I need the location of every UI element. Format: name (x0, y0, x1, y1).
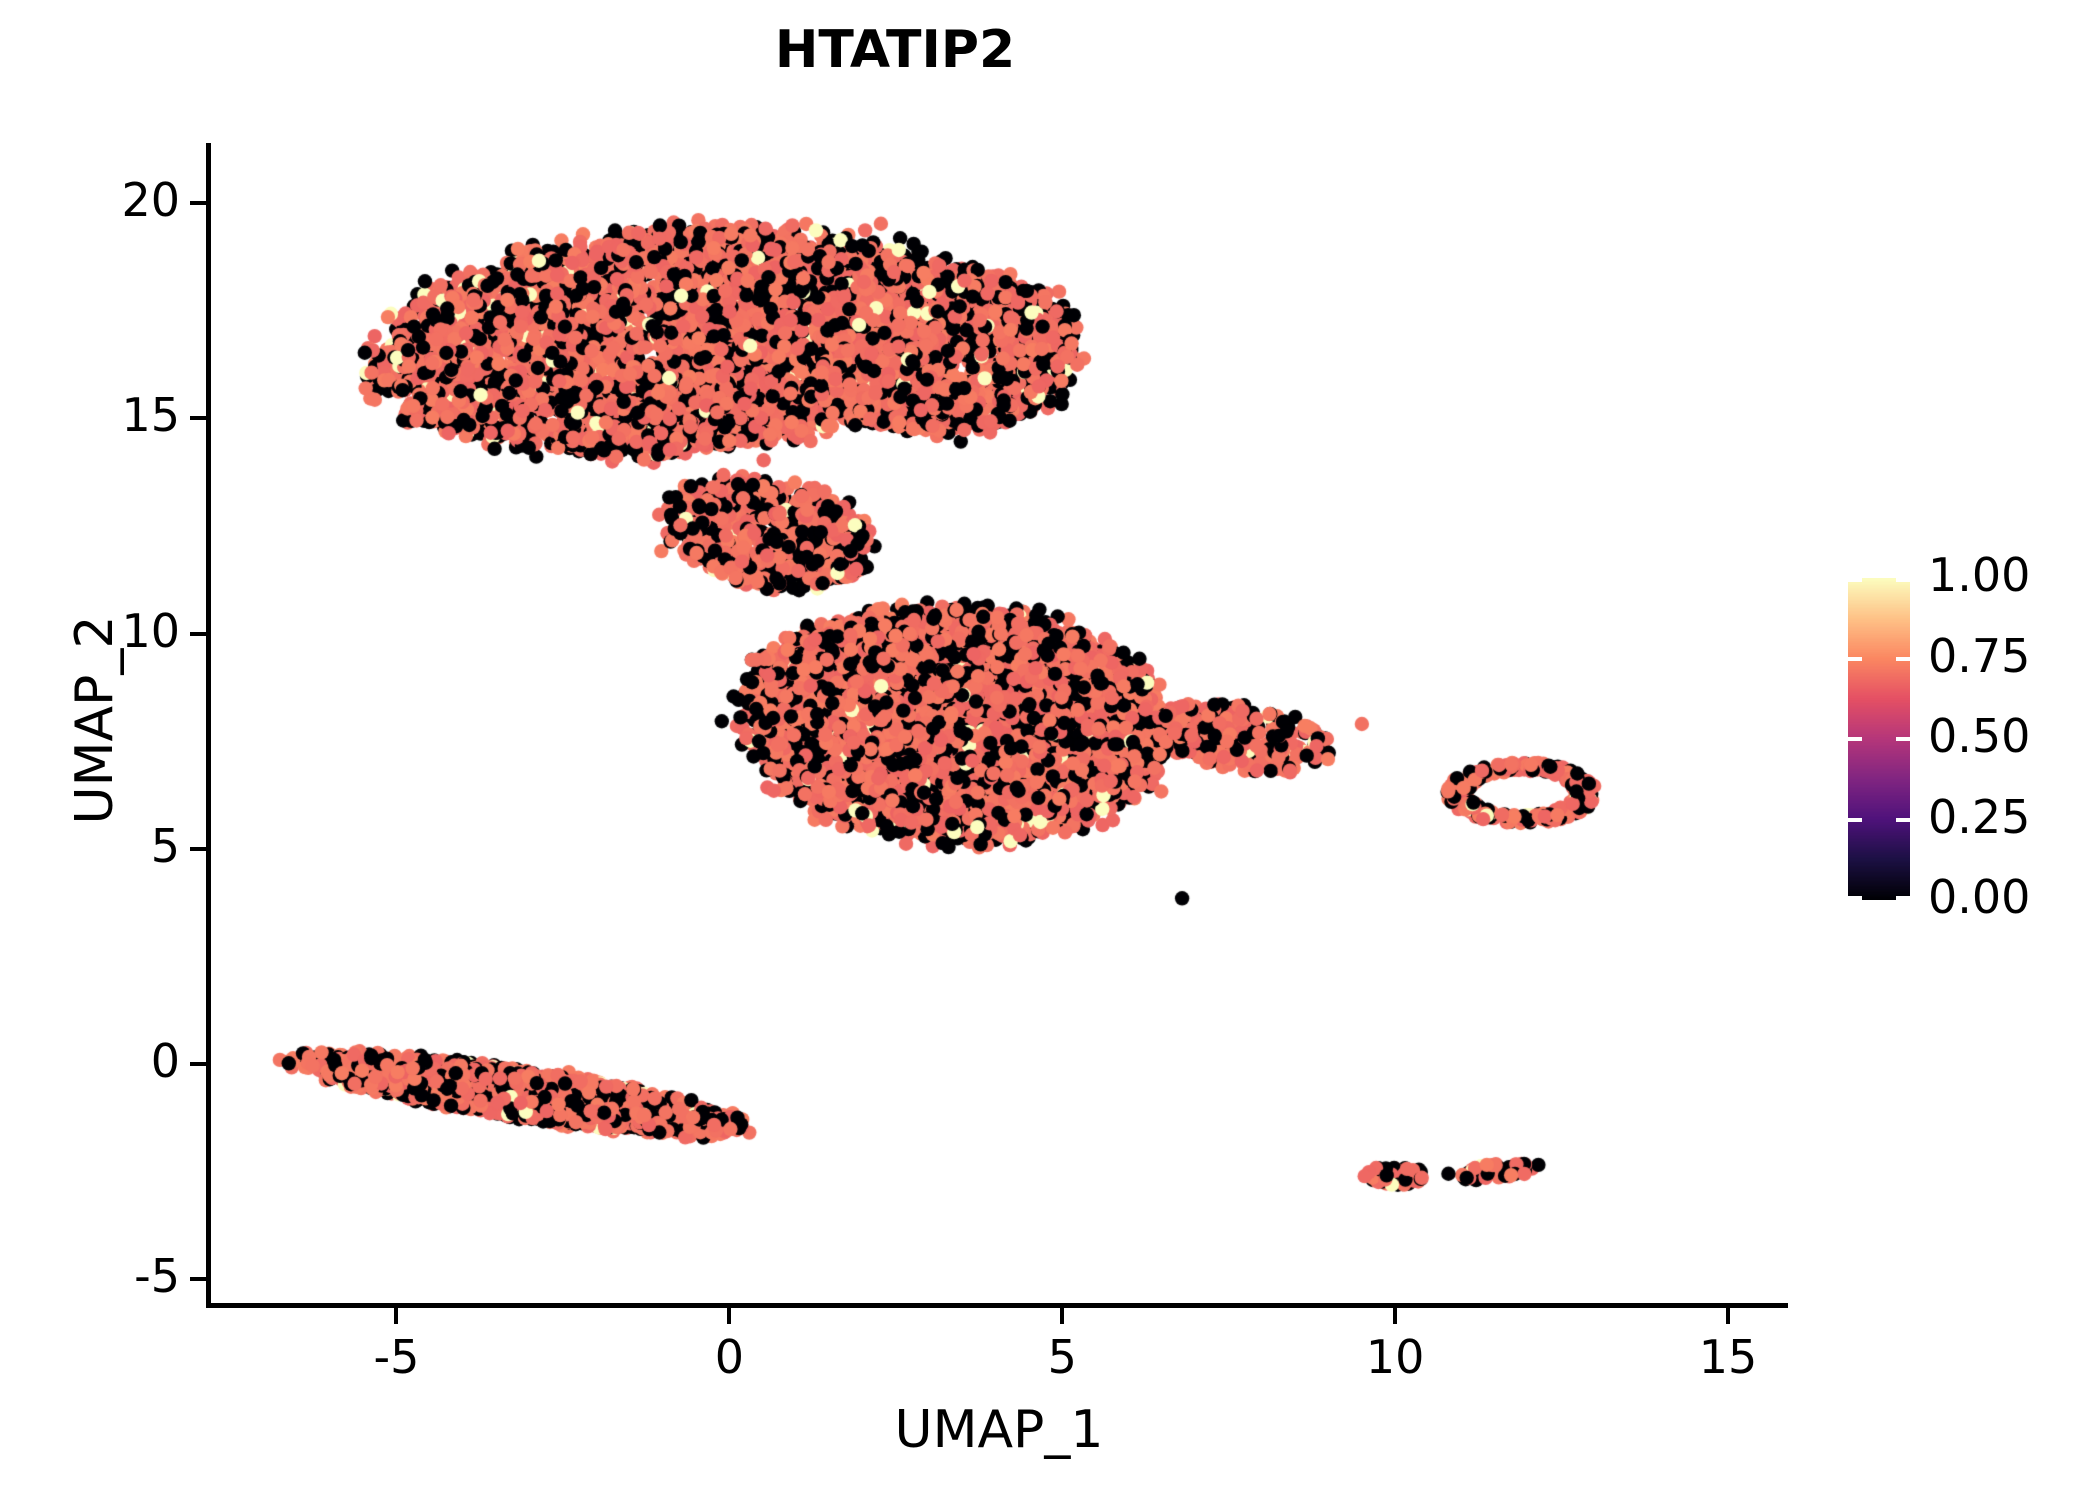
figure-root: HTATIP2 -5051015 -505101520 UMAP_1 UMAP_… (0, 0, 2100, 1500)
scatter-plot-area (210, 143, 1788, 1305)
colorbar-tick-mark (1896, 657, 1910, 661)
colorbar-tick-label: 0.25 (1928, 790, 2030, 844)
colorbar-tick-mark (1896, 737, 1910, 741)
colorbar-tick-label: 0.00 (1928, 870, 2030, 924)
x-tick-mark (1726, 1308, 1730, 1324)
y-tick-mark (190, 416, 206, 420)
x-tick-label: 0 (649, 1330, 809, 1384)
colorbar-tick-mark (1896, 896, 1910, 900)
colorbar-tick-mark (1848, 896, 1862, 900)
x-axis-label: UMAP_1 (210, 1400, 1788, 1460)
y-tick-mark (190, 1277, 206, 1281)
y-axis-spine (206, 143, 211, 1308)
x-tick-label: 10 (1315, 1330, 1475, 1384)
x-tick-label: 5 (982, 1330, 1142, 1384)
colorbar-tick-mark (1848, 657, 1862, 661)
scatter-points-canvas (210, 143, 1788, 1305)
x-tick-mark (727, 1308, 731, 1324)
colorbar-tick-mark (1896, 818, 1910, 822)
colorbar-tick-mark (1848, 578, 1862, 582)
x-tick-mark (1060, 1308, 1064, 1324)
y-tick-mark (190, 201, 206, 205)
page-title: HTATIP2 (0, 20, 1790, 80)
colorbar-tick-mark (1848, 737, 1862, 741)
y-tick-mark (190, 632, 206, 636)
y-tick-label: 20 (0, 173, 180, 227)
colorbar-legend (1848, 578, 1910, 900)
x-tick-label: 15 (1648, 1330, 1808, 1384)
y-tick-mark (190, 847, 206, 851)
colorbar-tick-mark (1848, 818, 1862, 822)
y-tick-mark (190, 1062, 206, 1066)
x-tick-mark (1393, 1308, 1397, 1324)
y-axis-label: UMAP_2 (65, 370, 125, 1070)
colorbar-tick-label: 1.00 (1928, 548, 2030, 602)
x-tick-label: -5 (316, 1330, 476, 1384)
x-axis-spine (206, 1303, 1788, 1308)
y-tick-label: -5 (0, 1249, 180, 1303)
colorbar-tick-mark (1896, 578, 1910, 582)
colorbar-tick-label: 0.50 (1928, 709, 2030, 763)
colorbar-tick-label: 0.75 (1928, 629, 2030, 683)
x-tick-mark (394, 1308, 398, 1324)
